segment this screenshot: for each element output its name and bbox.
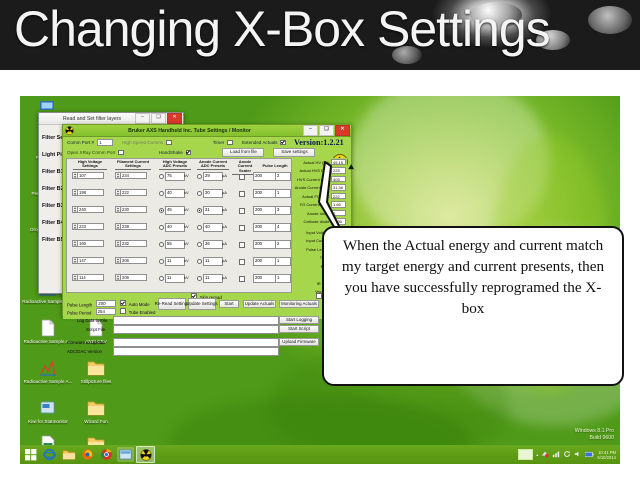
firmware-input[interactable] [113,338,279,347]
minimize-button[interactable]: – [303,125,318,136]
unit-ua-label: µA [222,258,227,263]
comm-port-input[interactable]: 1 [97,139,113,146]
close-button[interactable]: ✕ [335,125,350,136]
filter-layers-app-icon[interactable] [117,447,134,462]
tube-enabled-control[interactable]: Tube Enabled [120,308,155,315]
settings-row: ▲▼114 ▲▼206 11 kV 11 µA 200 1 [67,273,291,285]
hv-adc-preset-input[interactable]: 40 [165,189,185,198]
settings-row: ▲▼147 ▲▼206 11 kV 11 µA 200 1 [67,256,291,268]
hv-adc-radio[interactable] [159,242,164,247]
readout-row: Actual HV (kV)45.15 [303,158,346,166]
readout-label: FG Current (mA) [300,202,330,207]
system-tray[interactable]: ▴ 10:41 PM 6/10/2014 [518,449,620,460]
monitor-enable-checkbox[interactable] [316,293,322,299]
anode-adc-preset-input[interactable]: 40 [203,223,223,232]
monitoring-actuals-button[interactable]: Monitoring Actuals [279,300,319,308]
anode-scaler-checkbox[interactable] [239,191,245,197]
filter-input[interactable]: 3 [275,206,291,215]
open-comm-port-label: Open XRay Comm Port [67,150,115,155]
battery-icon[interactable] [585,451,594,459]
filament-current-input[interactable]: 232 [120,240,147,247]
unit-kv-label: kV [184,275,189,280]
unit-kv-label: kV [184,207,189,212]
settings-row: ▲▼107 ▲▼234 75 kV 29 µA 200 2 [67,171,291,183]
unit-ua-label: µA [222,241,227,246]
tube-enabled-label: Tube Enabled [129,310,156,315]
upload-firmware-button[interactable]: Upload Firmware [279,338,319,346]
pulse-length-input[interactable]: 200 [253,240,276,249]
start-button[interactable]: Start [219,300,239,308]
unit-ua-label: µA [222,224,227,229]
unit-ua-label: µA [222,173,227,178]
hv-setting-input[interactable]: 107 [77,172,104,179]
anode-adc-preset-input[interactable]: 11 [203,257,223,266]
maximize-button[interactable]: ❑ [151,113,166,124]
extended-actuals-label: Extended Actuals [242,140,278,145]
anode-adc-radio[interactable] [197,259,202,264]
unit-kv-label: kV [184,190,189,195]
callout-text: When the Actual energy and current match… [334,235,612,319]
firefox-icon[interactable] [79,447,96,462]
hv-adc-radio[interactable] [159,276,164,281]
anode-adc-preset-input[interactable]: 31 [203,206,223,215]
column-header: Anode Current ADC Presets [197,160,229,170]
pulse-period-value-input[interactable]: 254 [96,308,116,315]
readout-row: Actual FG DAC222 [302,192,346,200]
readout-value: 0 [331,210,346,217]
settings-row: ▲▼240 ▲▼230 45 kV 31 µA 200 3 [67,205,291,217]
desktop-icon-label: Wizard Fun [70,419,122,424]
anode-adc-preset-input[interactable]: 29 [203,172,223,181]
internet-explorer-icon[interactable] [41,447,58,462]
unit-ua-label: µA [222,190,227,195]
clock-date: 6/10/2014 [597,455,616,460]
script-file-input[interactable] [113,325,279,334]
unit-kv-label: kV [184,241,189,246]
os-watermark: Windows 8.1 Pro Build 9600 [575,428,614,442]
os-name: Windows 8.1 Pro [575,428,614,435]
pulse-length-input[interactable]: 200 [253,172,276,181]
tube-settings-grid: High Voltage Settings Filament Current S… [66,158,292,293]
file-explorer-icon[interactable] [60,447,77,462]
start-button[interactable] [22,447,39,462]
auto-mode-control[interactable]: Auto Mode [120,300,150,307]
anode-adc-radio[interactable] [197,242,202,247]
readout-label: Anode Current (µA) [295,185,330,190]
anode-scaler-checkbox[interactable] [239,225,245,231]
hv-adc-preset-input[interactable]: 45 [165,206,185,215]
hv-setting-input[interactable]: 114 [77,274,104,281]
folder-icon [85,398,107,418]
radiation-icon [65,126,74,135]
readout-value: 4095 [331,218,346,225]
column-header: High Voltage ADC Presets [159,160,191,170]
document-icon [37,318,59,338]
chrome-icon[interactable] [98,447,115,462]
filter-input[interactable]: 1 [275,257,291,266]
auto-mode-checkbox[interactable] [120,300,126,306]
unit-kv-label: kV [184,258,189,263]
reread-settings-button[interactable]: Re-Read Settings [158,298,186,310]
hv-setting-input[interactable]: 198 [77,189,104,196]
desktop-icon-label: Kiwi for Statmonitor [22,419,74,424]
readout-value: 45.15 [331,159,346,166]
anode-scaler-checkbox[interactable] [239,208,245,214]
desktop-icon-wizard-fun[interactable]: Wizard Fun [70,398,122,424]
start-logging-button[interactable]: Start Logging [279,316,319,324]
filament-current-input[interactable]: 238 [120,223,147,230]
anode-scaler-checkbox[interactable] [239,174,245,180]
handshake-label: HandShake [159,150,183,155]
hv-setting-input[interactable]: 160 [77,240,104,247]
filter-input[interactable]: 1 [275,274,291,283]
anode-adc-radio[interactable] [197,191,202,196]
hv-adc-radio[interactable] [159,191,164,196]
hv-adc-radio[interactable] [159,208,164,213]
filter-input[interactable]: 2 [275,172,291,181]
tray-expand-icon[interactable]: ▴ [536,452,538,457]
clock[interactable]: 10:41 PM 6/10/2014 [597,450,616,460]
settings-row: ▲▼160 ▲▼232 55 kV 26 µA 200 2 [67,239,291,251]
anode-adc-radio[interactable] [197,276,202,281]
anode-adc-radio[interactable] [197,208,202,213]
open-comm-port-checkbox[interactable] [118,150,124,156]
update-actuals-button[interactable]: Update Actuals [243,300,276,308]
readout-value: 31.36 [331,184,346,191]
anode-adc-preset-input[interactable]: 30 [203,189,223,198]
readout-value: 1.66 [331,201,346,208]
readout-row: HVS Current (mA)405 [297,175,346,183]
pulse-length-control: Pulse Length 200 [67,300,116,308]
hv-adc-preset-input[interactable]: 75 [165,172,185,181]
readout-row: Cathode diode4095 [303,218,346,226]
anode-adc-radio[interactable] [197,174,202,179]
version-label: Version:1.2.21 [294,138,344,147]
update-settings-button[interactable]: Update Settings [188,298,216,310]
settings-row: ▲▼223 ▲▼238 40 kV 40 µA 200 4 [67,222,291,234]
anode-adc-preset-input[interactable]: 26 [203,240,223,249]
start-script-button[interactable]: Start Script [279,325,319,333]
anode-adc-preset-input[interactable]: 11 [203,274,223,283]
volume-icon[interactable] [574,450,582,459]
pulse-length-input[interactable]: 200 [253,257,276,266]
readout-label: Actual HV (kV) [303,160,329,165]
hv-adc-radio[interactable] [159,174,164,179]
hv-adc-radio[interactable] [159,259,164,264]
extended-actuals-checkbox[interactable] [280,140,286,146]
readout-row: Anode Current (µA)31.36 [295,184,346,192]
anode-scaler-checkbox[interactable] [239,259,245,265]
load-from-file-button[interactable]: Load from file [222,148,264,157]
readout-label: HVS Current (mA) [297,177,329,182]
action-center-icon[interactable] [541,450,549,459]
anode-scaler-checkbox[interactable] [239,276,245,282]
filter-input[interactable]: 4 [275,223,291,232]
readout-label: Anode diode [307,211,329,216]
pulse-length-value-input[interactable]: 200 [96,300,116,307]
maximize-button[interactable]: ❑ [319,125,334,136]
hv-adc-preset-input[interactable]: 11 [165,257,185,266]
network-icon[interactable] [552,450,560,459]
readout-value: 405 [331,176,346,183]
column-header: Filament Current Settings [115,160,151,170]
desktop-icon-label: Radioactive Sample A... [22,379,74,384]
slide-header-banner: Changing X-Box Settings [0,0,640,70]
pulse-length-input[interactable]: 200 [253,274,276,283]
tube-enabled-checkbox[interactable] [120,308,126,314]
column-header: Pulse Length [260,164,290,169]
tube-window-body: Comm Port # 1 High Speed Comms Timer Ext… [63,137,351,319]
unit-ua-label: µA [222,207,227,212]
callout-box: When the Actual energy and current match… [322,226,624,386]
page-title: Changing X-Box Settings [14,0,550,60]
hv-setting-input[interactable]: 240 [77,206,104,213]
filament-current-input[interactable]: 222 [120,189,147,196]
application-icon [37,398,59,418]
hv-adc-preset-input[interactable]: 55 [165,240,185,249]
log-data-input[interactable] [113,316,279,325]
filter-window-title: Read and Set filter layers [49,116,135,122]
pulse-period-label: Pulse Period [67,311,91,316]
refresh-icon[interactable] [563,450,571,459]
show-desktop-icon[interactable] [518,449,533,460]
handshake-checkbox[interactable] [186,150,192,156]
desktop-icon-label: Stillpicture files [70,379,122,384]
filament-current-input[interactable]: 206 [120,257,147,264]
log-data-label: Log Data to File [77,318,107,323]
unit-kv-label: kV [184,224,189,229]
anode-scaler-checkbox[interactable] [239,242,245,248]
anode-adc-radio[interactable] [197,225,202,230]
tube-toolbar-row-2: Open XRay Comm Port HandShake Load from … [67,148,347,157]
filter-input[interactable]: 1 [275,189,291,198]
tube-settings-window[interactable]: Bruker AXS Handheld Inc. Tube Settings /… [62,124,352,316]
desktop-icon-stillpicture-files[interactable]: Stillpicture files [70,358,122,384]
readout-value: 222 [331,193,346,200]
high-speed-comms-label: High Speed Comms [122,140,163,145]
firmware-label: Firmware to Upload [67,340,105,345]
desktop-icon-radioactive-sample-c[interactable]: Radioactive Sample A... [22,358,74,384]
pulse-length-input[interactable]: 200 [253,223,276,232]
hv-setting-input[interactable]: 147 [77,257,104,264]
comm-port-label: Comm Port # [67,140,94,145]
hv-setting-input[interactable]: 223 [77,223,104,230]
slide-canvas: Changing X-Box Settings This PC Recycle … [0,0,640,480]
filament-current-input[interactable]: 206 [120,274,147,281]
filament-current-input[interactable]: 234 [120,172,147,179]
auto-mode-label: Auto Mode [129,302,150,307]
readout-label: Actual HVS DAC [299,168,329,173]
close-button[interactable]: ✕ [167,113,182,124]
script-file-label: Script File [86,327,105,332]
pulse-length-input[interactable]: 200 [253,189,276,198]
hv-adc-preset-input[interactable]: 40 [165,223,185,232]
minimize-button[interactable]: – [135,113,150,124]
adc-dac-version-label: ADC/DAC Version [67,349,102,354]
unit-kv-label: kV [184,173,189,178]
tube-window-titlebar[interactable]: Bruker AXS Handheld Inc. Tube Settings /… [63,125,351,137]
readout-row: FG Current (mA)1.66 [300,201,346,209]
tube-window-title: Bruker AXS Handheld Inc. Tube Settings /… [76,128,303,134]
readout-row: Actual HVS DAC225 [299,167,346,175]
taskbar[interactable]: ▴ 10:41 PM 6/10/2014 [20,445,620,464]
save-settings-button[interactable]: Save settings [273,148,315,157]
readout-value: 225 [331,167,346,174]
hv-adc-preset-input[interactable]: 11 [165,274,185,283]
settings-row: ▲▼198 ▲▼222 40 kV 30 µA 200 1 [67,188,291,200]
desktop-icon-kiwi-for-statmonitor[interactable]: Kiwi for Statmonitor [22,398,74,424]
column-header: High Voltage Settings [73,160,107,170]
readout-row: Anode diode0 [307,209,346,217]
filter-input[interactable]: 2 [275,240,291,249]
adc-dac-version-input[interactable] [113,347,279,356]
pulse-length-label: Pulse Length [67,303,92,308]
pulse-period-control: Pulse Period 254 [67,308,116,316]
high-speed-comms-checkbox[interactable] [166,140,172,146]
readout-label: Actual FG DAC [302,194,329,199]
hv-adc-radio[interactable] [159,225,164,230]
filament-current-input[interactable]: 230 [120,206,147,213]
os-build: Build 9600 [575,435,614,442]
pulse-length-input[interactable]: 200 [253,206,276,215]
timer-label: Timer [213,140,225,145]
readout-label: Cathode diode [303,219,329,224]
tube-toolbar-row-1: Comm Port # 1 High Speed Comms Timer Ext… [67,138,347,147]
chart-icon [37,358,59,378]
folder-icon [85,358,107,378]
tube-settings-app-icon[interactable] [136,446,155,463]
unit-ua-label: µA [222,275,227,280]
timer-checkbox[interactable] [227,140,233,146]
clock-time: 10:41 PM [597,450,616,455]
